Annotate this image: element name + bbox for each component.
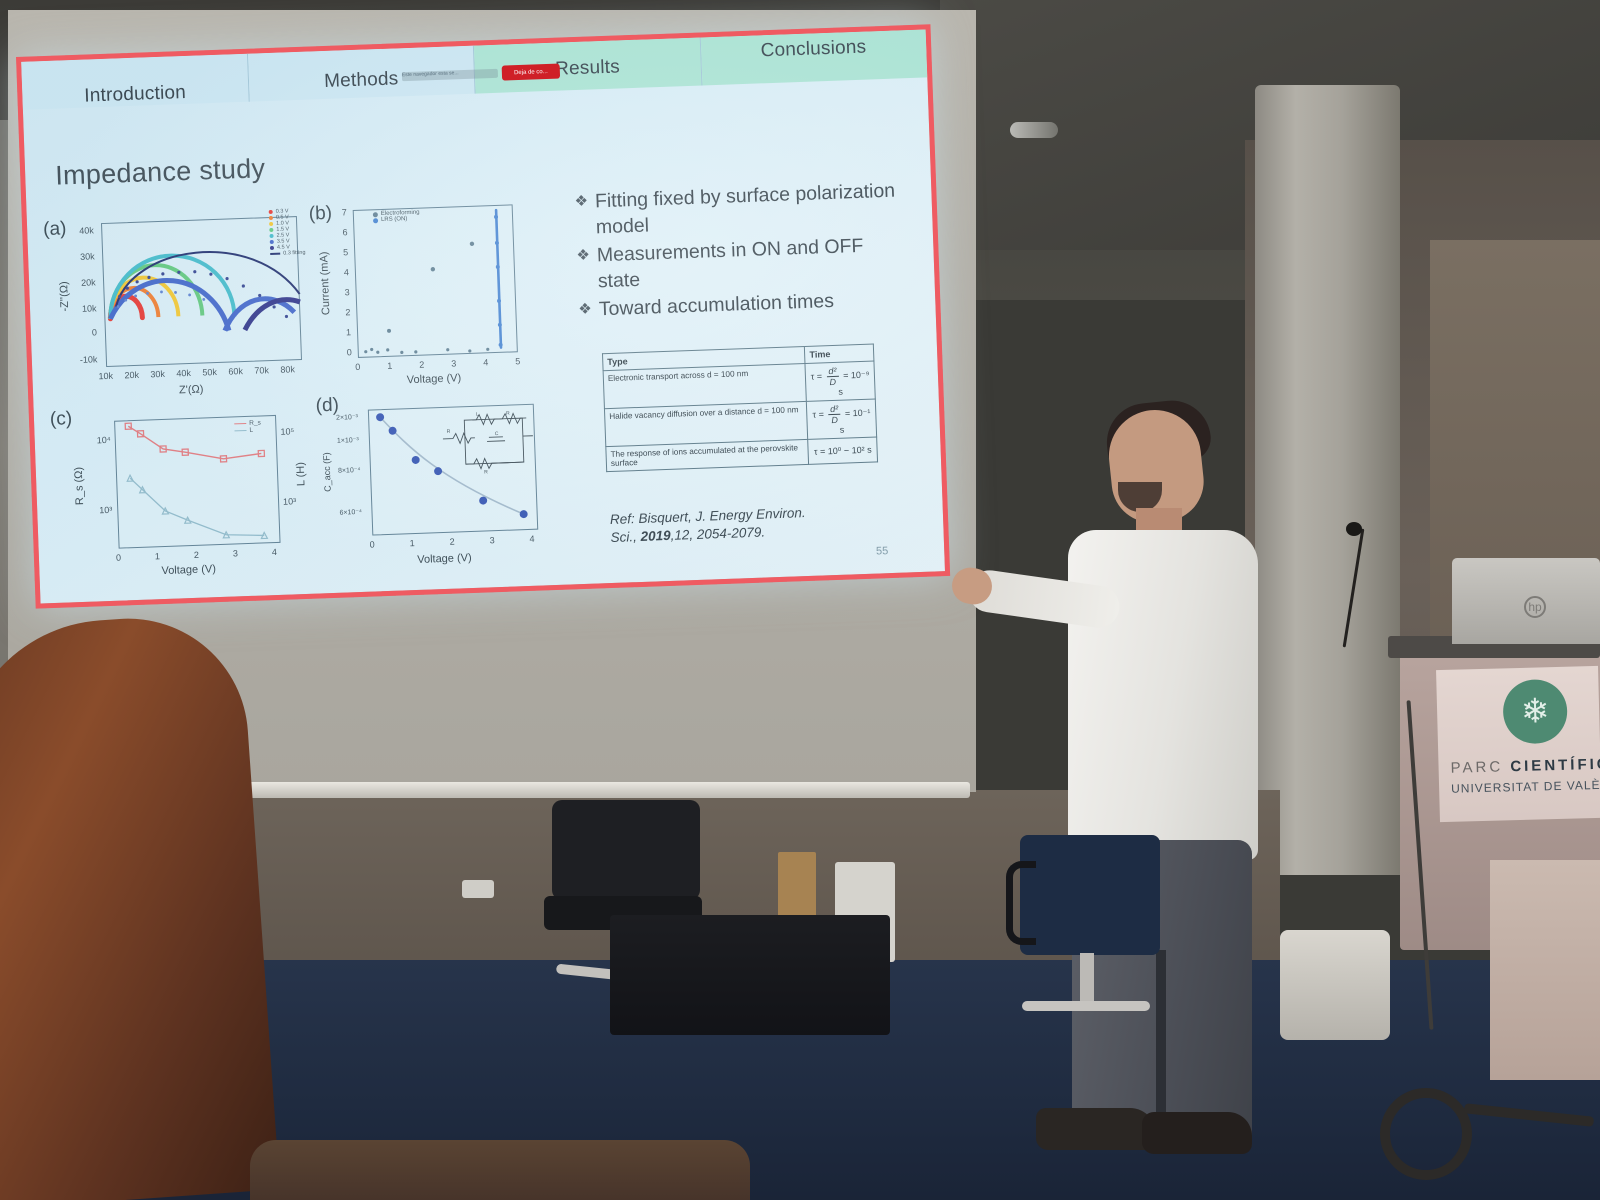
- panel-b-ytick-4: 4: [344, 267, 349, 277]
- chair-post: [1080, 953, 1094, 1005]
- panel-a-xtick-2: 30k: [150, 369, 165, 380]
- panel-d-inset-label-Rs: R: [447, 429, 451, 435]
- panel-c-y2tick-0: 10⁵: [280, 426, 294, 436]
- panel-a-ytick-3: 10k: [82, 303, 97, 314]
- equipment-case: [610, 915, 890, 1035]
- panel-d-inset-label-L: L: [476, 412, 479, 418]
- reference-citation: Ref: Bisquert, J. Energy Environ. Sci., …: [610, 501, 901, 548]
- office-chair-right: [1000, 835, 1180, 1055]
- tau-denominator: D: [827, 377, 839, 387]
- panel-c-xtick-1: 1: [155, 551, 160, 561]
- bullet-item-0-text: Fitting fixed by surface polarization mo…: [595, 178, 906, 241]
- panel-a-ytick-4: 0: [92, 327, 97, 337]
- reference-prefix: Sci.,: [610, 529, 641, 545]
- venue-sign-prefix: PARC: [1450, 758, 1510, 777]
- panel-b-ytick-3: 3: [344, 287, 349, 297]
- diamond-bullet-icon: ❖: [578, 297, 592, 323]
- reference-year: 2019: [640, 528, 671, 544]
- panel-b-ytick-1: 1: [346, 327, 351, 337]
- panel-d-xtick-3: 3: [489, 535, 494, 545]
- panel-d-inset-label-Rion: R: [484, 469, 488, 475]
- tab-introduction-label: Introduction: [84, 82, 186, 108]
- panel-b-ytick-6: 6: [342, 227, 347, 237]
- presenter-shoe-right: [1142, 1112, 1252, 1154]
- presenter-shoe-left: [1036, 1108, 1156, 1150]
- round-stool: [1280, 930, 1390, 1040]
- panel-b-xtick-2: 2: [419, 360, 424, 370]
- venue-sign: ❄ PARC CIENTÍFIC UNIVERSITAT DE VALÈNCIA: [1436, 666, 1600, 822]
- tab-introduction[interactable]: Introduction: [21, 54, 249, 110]
- projector-screen-housing: [208, 782, 970, 798]
- panel-b-ytick-0: 0: [347, 347, 352, 357]
- panel-b-xtick-3: 3: [451, 358, 456, 368]
- panel-a-xtick-1: 20k: [124, 370, 139, 381]
- panel-d-ytick-1: 1×10⁻³: [337, 436, 359, 445]
- panel-c-y2tick-1: 10³: [283, 496, 296, 506]
- panel-a-legend: 0.3 V 0.5 V 1.0 V 1.5 V 2.5 V 3.5 V 4.5 …: [269, 208, 306, 257]
- tau-prefix: τ =: [811, 371, 823, 381]
- chart-panel-b: (b): [304, 191, 543, 399]
- panel-a-legend-7: 0.3 fitting: [283, 250, 306, 257]
- table-cell-time: τ = 10⁰ − 10² s: [808, 437, 877, 464]
- bullet-item-1-text: Measurements in ON and OFF state: [596, 232, 907, 295]
- wall-outlet: [462, 880, 494, 898]
- panel-d-xtick-2: 2: [449, 537, 454, 547]
- panel-a-xtick-4: 50k: [202, 367, 217, 378]
- panel-d-xlabel: Voltage (V): [417, 552, 472, 566]
- panel-a-xtick-0: 10k: [98, 371, 113, 382]
- conference-room: Introduction Methods Results Conclusions…: [0, 0, 1600, 1200]
- panel-a-xtick-6: 70k: [254, 365, 269, 376]
- page-title: Impedance study: [55, 153, 266, 191]
- panel-a-xlabel: Z'(Ω): [179, 384, 204, 397]
- panel-c-legend-1: L: [249, 427, 253, 434]
- chair-armrest: [1006, 861, 1036, 945]
- tau-prefix: τ =: [812, 409, 824, 419]
- panel-c-ylabel: R_s (Ω): [72, 461, 86, 511]
- panel-c-legend: R_s L: [234, 419, 261, 434]
- bullet-item-1: ❖ Measurements in ON and OFF state: [576, 232, 908, 296]
- chair-backrest: [552, 800, 700, 900]
- panel-b-ytick-5: 5: [343, 247, 348, 257]
- chart-panel-a: (a): [41, 204, 318, 409]
- tau-suffix: 10⁰ − 10² s: [828, 444, 872, 456]
- panel-c-ylabel2: L (H): [294, 453, 307, 495]
- panel-d-inset-label-R: R: [506, 411, 510, 417]
- panel-a-ytick-2: 20k: [81, 277, 96, 288]
- panel-c-xtick-0: 0: [116, 553, 121, 563]
- tau-numerator: d²: [828, 404, 840, 415]
- bullet-item-0: ❖ Fitting fixed by surface polarization …: [574, 178, 906, 242]
- panel-b-ylabel: Current (mA): [318, 255, 332, 315]
- tau-numerator: d²: [826, 366, 838, 377]
- tau-fraction: d² D: [828, 404, 841, 425]
- venue-sign-bold: CIENTÍFIC: [1510, 756, 1600, 776]
- tab-conclusions[interactable]: Conclusions: [700, 29, 927, 85]
- panel-b-legend-1: LRS (ON): [381, 216, 408, 223]
- front-desk: [1490, 860, 1600, 1080]
- presenter-shirt: [1068, 530, 1258, 860]
- panel-a-ytick-1: 30k: [80, 251, 95, 262]
- panel-b-ytick-7: 7: [342, 207, 347, 217]
- panel-c-xtick-4: 4: [272, 547, 277, 557]
- tau-suffix: = 10⁻¹ s: [840, 408, 871, 435]
- diamond-bullet-icon: ❖: [576, 243, 591, 295]
- diamond-bullet-icon: ❖: [574, 190, 589, 242]
- panel-d-xtick-1: 1: [409, 538, 414, 548]
- equipment-tripod: [1380, 1080, 1590, 1200]
- panel-b-xtick-4: 4: [483, 357, 488, 367]
- chair-base: [1022, 1001, 1150, 1011]
- panel-b-ytick-2: 2: [345, 307, 350, 317]
- reference-suffix: ,12, 2054-2079.: [670, 525, 765, 543]
- venue-sign-line-2: UNIVERSITAT DE VALÈNCIA: [1451, 777, 1600, 796]
- panel-a-xtick-5: 60k: [228, 366, 243, 377]
- tripod-leg: [1464, 1103, 1594, 1127]
- panel-b-xtick-0: 0: [355, 362, 360, 372]
- panel-c-xlabel: Voltage (V): [161, 563, 216, 577]
- foreground-bench: [250, 1140, 750, 1200]
- panel-b-xtick-1: 1: [387, 361, 392, 371]
- ceiling-spotlight-icon: [1010, 122, 1058, 138]
- panel-b-legend: Electroforming LRS (ON): [373, 210, 420, 224]
- bullet-list: ❖ Fitting fixed by surface polarization …: [574, 178, 909, 325]
- table-cell-time: τ = d² D = 10⁻¹ s: [807, 399, 877, 439]
- panel-d-ytick-0: 2×10⁻³: [336, 413, 358, 422]
- projected-slide: Introduction Methods Results Conclusions…: [16, 24, 950, 608]
- panel-c-ytick-1: 10³: [99, 505, 112, 515]
- chair-backrest: [1020, 835, 1160, 955]
- tab-results-label: Results: [555, 56, 621, 80]
- panel-d-ylabel: C_acc (F): [321, 447, 333, 497]
- tau-fraction: d² D: [826, 366, 839, 387]
- chart-panel-d: (d): [311, 381, 558, 589]
- panel-a-ytick-0: 40k: [79, 225, 94, 236]
- chart-panel-c: (c): [47, 391, 324, 596]
- panel-d-xtick-4: 4: [529, 534, 534, 544]
- venue-sign-line-1: PARC CIENTÍFIC: [1450, 756, 1600, 777]
- tab-conclusions-label: Conclusions: [760, 37, 866, 63]
- panel-c-legend-0: R_s: [249, 419, 261, 426]
- panel-c-ytick-0: 10⁴: [97, 435, 111, 445]
- panel-d-xtick-0: 0: [369, 539, 374, 549]
- panel-d-inset-label-Cu: C: [495, 431, 499, 437]
- panel-c-xtick-2: 2: [194, 550, 199, 560]
- panel-a-ylabel: -Z''(Ω): [58, 273, 72, 319]
- panel-d-ytick-2: 8×10⁻⁴: [338, 466, 361, 475]
- microphone-icon: [1346, 522, 1362, 536]
- tripod-ring: [1380, 1088, 1472, 1180]
- panel-b-xtick-5: 5: [515, 356, 520, 366]
- tau-suffix: = 10⁻⁹ s: [838, 370, 869, 397]
- tau-denominator: D: [828, 415, 840, 425]
- hp-logo-icon: hp: [1524, 596, 1546, 618]
- timescale-table: Type Time Electronic transport across d …: [602, 343, 878, 472]
- audience-member-foreground: [0, 611, 280, 1200]
- tab-methods-label: Methods: [324, 68, 399, 93]
- panel-a-xtick-7: 80k: [280, 364, 295, 375]
- panel-a-ytick-5: -10k: [80, 354, 98, 365]
- panel-a-xtick-3: 40k: [176, 368, 191, 379]
- panel-d-ytick-3: 6×10⁻⁴: [339, 508, 362, 517]
- tau-prefix: τ =: [814, 446, 826, 456]
- panel-c-xtick-3: 3: [233, 548, 238, 558]
- table-cell-time: τ = d² D = 10⁻⁹ s: [805, 361, 875, 401]
- browser-notification-popup[interactable]: Deja de co...: [502, 64, 560, 81]
- slide-number: 55: [876, 545, 889, 557]
- snowflake-icon: ❄: [1502, 679, 1568, 745]
